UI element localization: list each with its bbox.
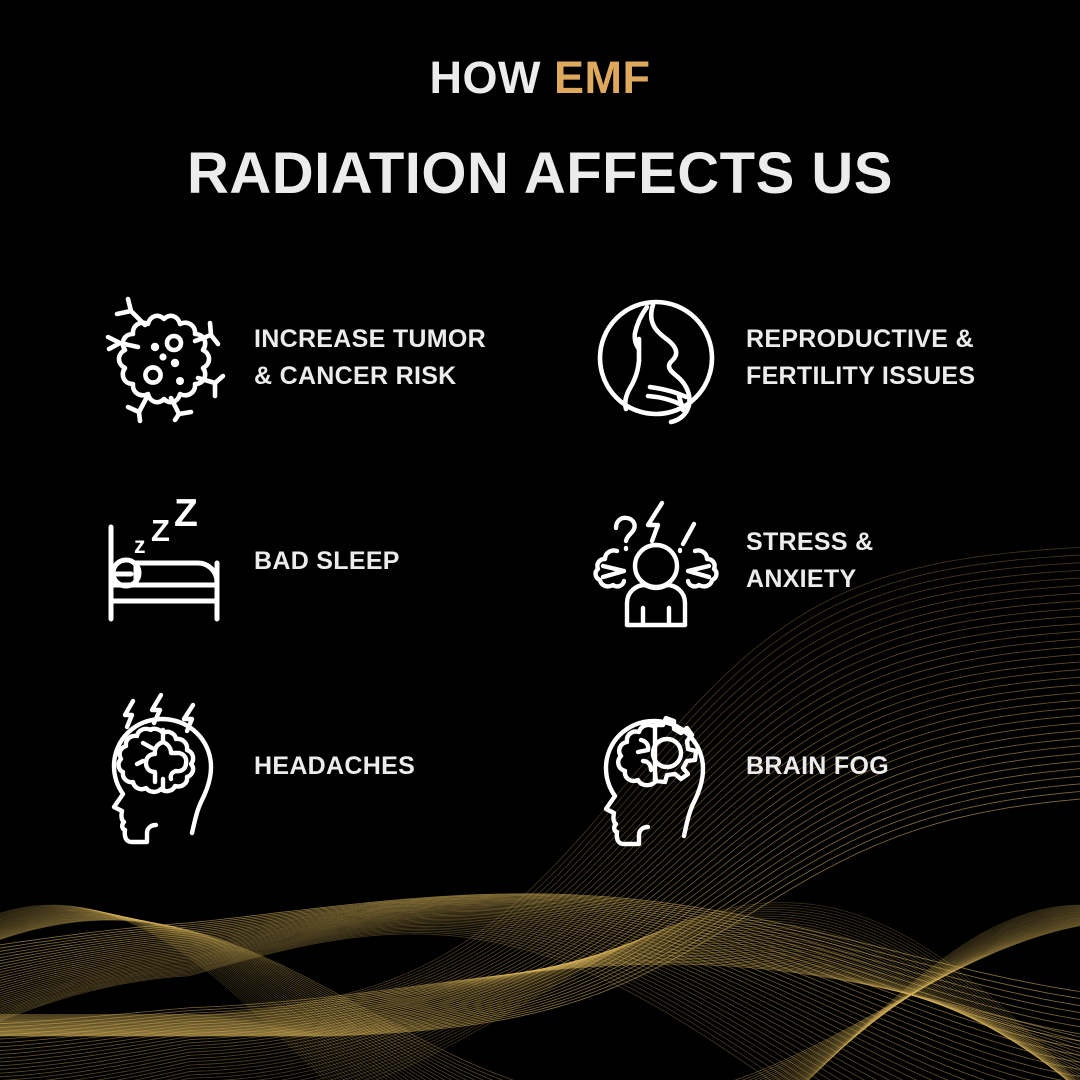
bed-sleeping-zzz-icon: z Z Z: [100, 491, 228, 631]
head-brain-gear-icon: [592, 696, 720, 836]
title-accent-emf: EMF: [554, 52, 651, 103]
list-item-label: BRAIN FOG: [746, 748, 889, 785]
svg-text:Z: Z: [151, 513, 170, 548]
list-item-reproductive: REPRODUCTIVE & FERTILITY ISSUES: [592, 288, 975, 428]
head-brain-lightning-icon: [100, 696, 228, 836]
list-item-stress: STRESS & ANXIETY: [592, 491, 873, 631]
heading-block: HOW EMF RADIATION AFFECTS US: [0, 54, 1080, 205]
list-item-sleep: z Z Z BAD SLEEP: [100, 491, 400, 631]
page-title-line-1: HOW EMF: [0, 54, 1080, 103]
emf-infographic-poster: HOW EMF RADIATION AFFECTS US: [0, 0, 1080, 1080]
list-item-tumor: INCREASE TUMOR & CANCER RISK: [100, 288, 486, 428]
pregnant-woman-circle-icon: [592, 288, 720, 428]
list-item-label: HEADACHES: [254, 748, 415, 785]
list-item-label: STRESS & ANXIETY: [746, 524, 873, 598]
list-item-label: INCREASE TUMOR & CANCER RISK: [254, 321, 486, 395]
page-title-line-2: RADIATION AFFECTS US: [0, 143, 1080, 206]
list-item-brainfog: BRAIN FOG: [592, 696, 889, 836]
title-prefix: HOW: [430, 52, 554, 103]
list-item-label: BAD SLEEP: [254, 543, 400, 580]
tumor-cell-icon: [100, 288, 228, 428]
stressed-person-steam-icon: [592, 491, 720, 631]
list-item-headaches: HEADACHES: [100, 696, 415, 836]
list-item-label: REPRODUCTIVE & FERTILITY ISSUES: [746, 321, 975, 395]
svg-text:z: z: [134, 532, 146, 558]
svg-text:Z: Z: [174, 492, 198, 535]
effects-list: INCREASE TUMOR & CANCER RISK: [0, 288, 1080, 888]
